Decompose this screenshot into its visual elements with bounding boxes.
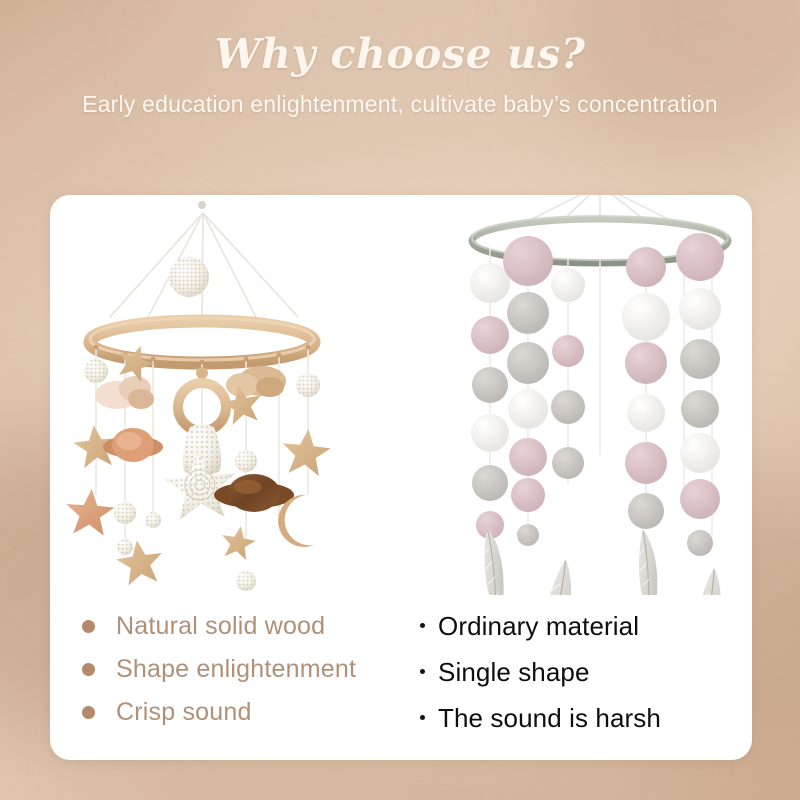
competitor-feature-label: Single shape: [438, 657, 590, 688]
feather-shape: [533, 557, 578, 595]
our-mobile-illustration: [50, 195, 450, 595]
bullet-dot-icon: [82, 706, 95, 719]
list-item: Single shape: [420, 649, 752, 695]
promo-graphic: Why choose us? Early education enlighten…: [0, 0, 800, 800]
feature-comparison-lists: Natural solid wood Shape enlightenment C…: [50, 595, 752, 760]
header: Why choose us? Early education enlighten…: [0, 34, 800, 119]
competitor-product-image: [450, 195, 752, 595]
list-item: The sound is harsh: [420, 695, 752, 741]
page-title: Why choose us?: [0, 34, 800, 75]
bullet-dot-icon: [420, 623, 425, 628]
competitor-feature-label: Ordinary material: [438, 611, 639, 642]
competitor-mobile-illustration: [450, 195, 752, 595]
bullet-dot-icon: [82, 620, 95, 633]
page-subtitle: Early education enlightenment, cultivate…: [0, 89, 800, 119]
list-item: Natural solid wood: [82, 605, 420, 648]
our-feature-label: Crisp sound: [116, 698, 252, 727]
our-features-list: Natural solid wood Shape enlightenment C…: [50, 595, 420, 760]
feather-shape: [686, 566, 727, 595]
feather-shape: [635, 528, 663, 595]
competitor-features-list: Ordinary material Single shape The sound…: [420, 595, 752, 760]
comparison-card: Natural solid wood Shape enlightenment C…: [50, 195, 752, 760]
our-feature-label: Shape enlightenment: [116, 655, 356, 684]
our-feature-label: Natural solid wood: [116, 612, 325, 641]
bullet-dot-icon: [82, 663, 95, 676]
list-item: Shape enlightenment: [82, 648, 420, 691]
our-product-image: [50, 195, 450, 595]
list-item: Crisp sound: [82, 691, 420, 734]
product-photos: [50, 195, 752, 595]
competitor-feature-label: The sound is harsh: [438, 703, 661, 734]
list-item: Ordinary material: [420, 603, 752, 649]
bullet-dot-icon: [420, 715, 425, 720]
bullet-dot-icon: [420, 669, 425, 674]
